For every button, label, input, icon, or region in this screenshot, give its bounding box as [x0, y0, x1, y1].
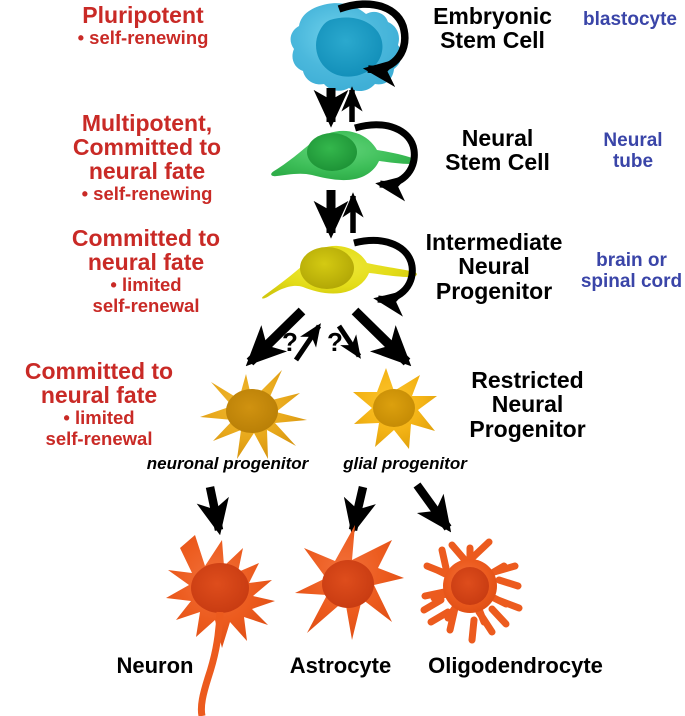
cell-name-esc-line1: Embryonic [405, 4, 580, 28]
neuron-figure [166, 535, 275, 716]
cell-name-esc-line2: Stem Cell [405, 28, 580, 52]
label-glial-progenitor: glial progenitor [330, 455, 480, 473]
tissue-brain-line1: brain or [578, 250, 685, 271]
arrow-neuronal-progenitor-to-neuron [210, 487, 219, 530]
stage-label-committed-2-line2: neural fate [4, 384, 194, 408]
stage-label-committed-1-bullet2: self-renewal [48, 296, 244, 317]
self-renewal-arrow-nsc [355, 125, 414, 185]
question-mark-right: ? [320, 329, 350, 356]
stage-label-committed-1-line2: neural fate [48, 251, 244, 275]
self-renewal-arrow-esc [339, 4, 405, 69]
cell-name-embryonic-stem-cell: Embryonic Stem Cell [405, 4, 580, 53]
arrow-glial-progenitor-to-astrocyte [353, 487, 363, 530]
embryonic-stem-cell-figure [291, 3, 402, 91]
bottom-name-oligodendrocyte: Oligodendrocyte [408, 655, 623, 678]
tissue-label-brain-spinal-cord: brain or spinal cord [578, 250, 685, 293]
stage-label-committed-2-line1: Committed to [4, 360, 194, 384]
tissue-brain-line2: spinal cord [578, 271, 685, 292]
cell-name-nsc-line2: Stem Cell [415, 150, 580, 174]
cell-name-rnp-line3: Progenitor [440, 417, 615, 441]
arrow-glial-progenitor-to-oligodendrocyte [417, 485, 448, 528]
stage-label-multipotent-bullet: • self-renewing [52, 184, 242, 205]
cell-name-inp-line1: Intermediate [405, 230, 583, 254]
tissue-neural-tube-line1: Neural [588, 130, 678, 151]
stage-label-pluripotent-title: Pluripotent [48, 4, 238, 28]
cell-name-restricted-neural-progenitor: Restricted Neural Progenitor [440, 368, 615, 441]
tissue-neural-tube-line2: tube [588, 151, 678, 172]
intermediate-neural-progenitor-figure [262, 246, 417, 299]
stage-label-pluripotent-bullet: • self-renewing [48, 28, 238, 49]
arrow-inp-to-glial-progenitor [355, 311, 407, 362]
diagram-canvas: Pluripotent • self-renewing Multipotent,… [0, 0, 685, 716]
stage-label-committed-2: Committed to neural fate • limited self-… [4, 360, 194, 449]
stage-label-committed-1-bullet1: • limited [48, 275, 244, 296]
question-mark-left: ? [275, 329, 305, 356]
stage-label-committed-1-line1: Committed to [48, 227, 244, 251]
stage-label-committed-2-bullet1: • limited [4, 408, 194, 429]
tissue-label-blastocyte: blastocyte [575, 9, 685, 30]
stage-label-multipotent-line2: Committed to [52, 136, 242, 160]
neural-stem-cell-figure [271, 131, 416, 180]
self-renewal-arrow-inp [354, 240, 412, 299]
label-neuronal-progenitor: neuronal progenitor [135, 455, 320, 473]
astrocyte-figure [295, 525, 404, 640]
glial-progenitor-figure [353, 368, 437, 449]
cell-name-intermediate-neural-progenitor: Intermediate Neural Progenitor [405, 230, 583, 303]
stage-label-pluripotent: Pluripotent • self-renewing [48, 4, 238, 49]
cell-name-neural-stem-cell: Neural Stem Cell [415, 126, 580, 175]
cell-name-inp-line2: Neural [405, 254, 583, 278]
oligodendrocyte-figure [424, 542, 519, 640]
stage-label-multipotent: Multipotent, Committed to neural fate • … [52, 112, 242, 204]
tissue-blastocyte-text: blastocyte [575, 9, 685, 30]
cell-name-inp-line3: Progenitor [405, 279, 583, 303]
stage-label-committed-1: Committed to neural fate • limited self-… [48, 227, 244, 316]
tissue-label-neural-tube: Neural tube [588, 130, 678, 173]
bottom-name-neuron: Neuron [100, 655, 210, 678]
stage-label-multipotent-line1: Multipotent, [52, 112, 242, 136]
cell-name-rnp-line1: Restricted [440, 368, 615, 392]
cell-name-nsc-line1: Neural [415, 126, 580, 150]
neuronal-progenitor-figure [200, 370, 307, 459]
cell-name-rnp-line2: Neural [440, 392, 615, 416]
stage-label-committed-2-bullet2: self-renewal [4, 429, 194, 450]
bottom-name-astrocyte: Astrocyte [278, 655, 403, 678]
stage-label-multipotent-line3: neural fate [52, 160, 242, 184]
